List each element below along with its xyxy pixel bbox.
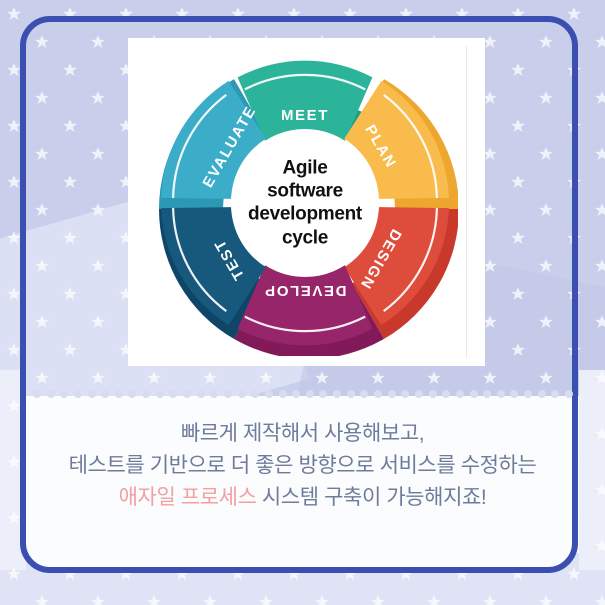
wheel-center-title-line-1: Agile: [230, 157, 380, 180]
wheel-center-title-line-2: software: [230, 180, 380, 203]
wheel-center-title-line-4: cycle: [230, 226, 380, 249]
slide-canvas: MEET PLAN DESIGN DEVELOP TEST EVALUATE A…: [0, 0, 605, 605]
diagram-image-card: MEET PLAN DESIGN DEVELOP TEST EVALUATE A…: [128, 38, 485, 366]
wheel-center-title-line-3: development: [230, 203, 380, 226]
caption-text-block: 빠르게 제작해서 사용해보고, 테스트를 기반으로 더 좋은 방향으로 서비스를…: [26, 418, 579, 514]
caption-line-2: 테스트를 기반으로 더 좋은 방향으로 서비스를 수정하는: [26, 450, 579, 482]
wheel-label-meet: MEET: [281, 107, 329, 124]
agile-cycle-wheel: MEET PLAN DESIGN DEVELOP TEST EVALUATE A…: [152, 50, 458, 356]
caption-highlight: 애자일 프로세스: [119, 486, 257, 509]
wheel-center-title: Agile software development cycle: [230, 157, 380, 250]
wheel-label-develop: DEVELOP: [264, 282, 347, 299]
caption-line-3: 애자일 프로세스 시스템 구축이 가능해지죠!: [26, 482, 579, 514]
dotted-divider: [33, 389, 573, 399]
card-hairline: [466, 46, 467, 358]
caption-line-1: 빠르게 제작해서 사용해보고,: [26, 418, 579, 450]
caption-line-3-rest: 시스템 구축이 가능해지죠!: [257, 486, 487, 509]
